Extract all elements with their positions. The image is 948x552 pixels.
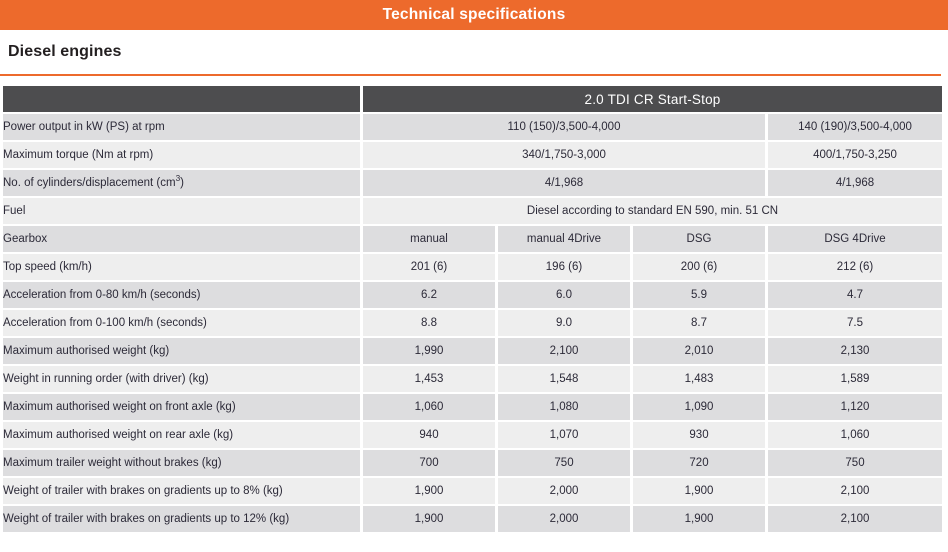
- table-row: Top speed (km/h)201 (6)196 (6)200 (6)212…: [3, 254, 942, 280]
- table-row: Acceleration from 0-80 km/h (seconds)6.2…: [3, 282, 942, 308]
- table-row: Weight of trailer with brakes on gradien…: [3, 478, 942, 504]
- row-value: 200 (6): [633, 254, 765, 280]
- table-row: Acceleration from 0-100 km/h (seconds)8.…: [3, 310, 942, 336]
- row-value: 2,100: [498, 338, 630, 364]
- table-row: Maximum trailer weight without brakes (k…: [3, 450, 942, 476]
- row-value: 2,010: [633, 338, 765, 364]
- row-value: DSG: [633, 226, 765, 252]
- row-value: 1,548: [498, 366, 630, 392]
- row-value: 1,453: [363, 366, 495, 392]
- table-row: Maximum authorised weight on rear axle (…: [3, 422, 942, 448]
- row-value: 2,100: [768, 478, 942, 504]
- row-label: Acceleration from 0-100 km/h (seconds): [3, 310, 360, 336]
- row-value: 1,900: [633, 478, 765, 504]
- corner-cell: [3, 86, 360, 112]
- engine-group-header: 2.0 TDI CR Start-Stop: [363, 86, 942, 112]
- row-value: 1,483: [633, 366, 765, 392]
- diesel-engines-spec-table: 2.0 TDI CR Start-Stop Power output in kW…: [0, 84, 945, 534]
- row-label: Weight of trailer with brakes on gradien…: [3, 506, 360, 532]
- row-value: 7.5: [768, 310, 942, 336]
- row-value: DSG 4Drive: [768, 226, 942, 252]
- row-value: 4/1,968: [768, 170, 942, 196]
- row-value: 1,589: [768, 366, 942, 392]
- row-value: 1,080: [498, 394, 630, 420]
- row-label: Maximum authorised weight on rear axle (…: [3, 422, 360, 448]
- row-value: 400/1,750-3,250: [768, 142, 942, 168]
- section-header: Diesel engines: [0, 30, 948, 74]
- row-value: 700: [363, 450, 495, 476]
- row-value: 4/1,968: [363, 170, 765, 196]
- table-row: Maximum authorised weight on front axle …: [3, 394, 942, 420]
- row-value: 6.0: [498, 282, 630, 308]
- row-value: 2,130: [768, 338, 942, 364]
- row-value: 5.9: [633, 282, 765, 308]
- row-value: 8.8: [363, 310, 495, 336]
- row-value: 2,000: [498, 506, 630, 532]
- row-value: manual 4Drive: [498, 226, 630, 252]
- row-value: 1,070: [498, 422, 630, 448]
- row-label: Gearbox: [3, 226, 360, 252]
- row-value: 1,060: [768, 422, 942, 448]
- row-value: 201 (6): [363, 254, 495, 280]
- row-label: Weight of trailer with brakes on gradien…: [3, 478, 360, 504]
- row-value: 6.2: [363, 282, 495, 308]
- row-label: No. of cylinders/displacement (cm3): [3, 170, 360, 196]
- row-value: Diesel according to standard EN 590, min…: [363, 198, 942, 224]
- row-value: 750: [768, 450, 942, 476]
- row-value: 196 (6): [498, 254, 630, 280]
- table-body: Power output in kW (PS) at rpm110 (150)/…: [3, 114, 942, 532]
- row-value: 1,120: [768, 394, 942, 420]
- row-value: 212 (6): [768, 254, 942, 280]
- row-value: 930: [633, 422, 765, 448]
- table-row: FuelDiesel according to standard EN 590,…: [3, 198, 942, 224]
- table-row: Weight of trailer with brakes on gradien…: [3, 506, 942, 532]
- table-head: 2.0 TDI CR Start-Stop: [3, 86, 942, 112]
- row-value: 1,900: [633, 506, 765, 532]
- row-value: 1,990: [363, 338, 495, 364]
- row-value: 9.0: [498, 310, 630, 336]
- row-value: 1,060: [363, 394, 495, 420]
- row-value: 340/1,750-3,000: [363, 142, 765, 168]
- page-title: Diesel engines: [8, 43, 121, 61]
- row-value: 940: [363, 422, 495, 448]
- technical-specifications-banner: Technical specifications: [0, 0, 948, 30]
- section-divider: [0, 74, 941, 76]
- row-value: 140 (190)/3,500-4,000: [768, 114, 942, 140]
- row-label: Maximum trailer weight without brakes (k…: [3, 450, 360, 476]
- row-value: 750: [498, 450, 630, 476]
- row-value: 1,900: [363, 506, 495, 532]
- table-row: Maximum authorised weight (kg)1,9902,100…: [3, 338, 942, 364]
- row-label: Maximum authorised weight on front axle …: [3, 394, 360, 420]
- row-value: 720: [633, 450, 765, 476]
- table-row: Weight in running order (with driver) (k…: [3, 366, 942, 392]
- table-row: Power output in kW (PS) at rpm110 (150)/…: [3, 114, 942, 140]
- row-value: 2,100: [768, 506, 942, 532]
- row-value: 2,000: [498, 478, 630, 504]
- row-label: Power output in kW (PS) at rpm: [3, 114, 360, 140]
- row-value: 1,900: [363, 478, 495, 504]
- row-value: manual: [363, 226, 495, 252]
- row-value: 4.7: [768, 282, 942, 308]
- banner-title: Technical specifications: [383, 6, 566, 24]
- row-value: 8.7: [633, 310, 765, 336]
- table-row: Maximum torque (Nm at rpm)340/1,750-3,00…: [3, 142, 942, 168]
- row-label: Acceleration from 0-80 km/h (seconds): [3, 282, 360, 308]
- table-row: Gearboxmanualmanual 4DriveDSGDSG 4Drive: [3, 226, 942, 252]
- row-label: Maximum authorised weight (kg): [3, 338, 360, 364]
- row-label: Fuel: [3, 198, 360, 224]
- row-value: 110 (150)/3,500-4,000: [363, 114, 765, 140]
- row-label: Weight in running order (with driver) (k…: [3, 366, 360, 392]
- table-header-row: 2.0 TDI CR Start-Stop: [3, 86, 942, 112]
- row-label: Maximum torque (Nm at rpm): [3, 142, 360, 168]
- table-row: No. of cylinders/displacement (cm3)4/1,9…: [3, 170, 942, 196]
- row-value: 1,090: [633, 394, 765, 420]
- row-label: Top speed (km/h): [3, 254, 360, 280]
